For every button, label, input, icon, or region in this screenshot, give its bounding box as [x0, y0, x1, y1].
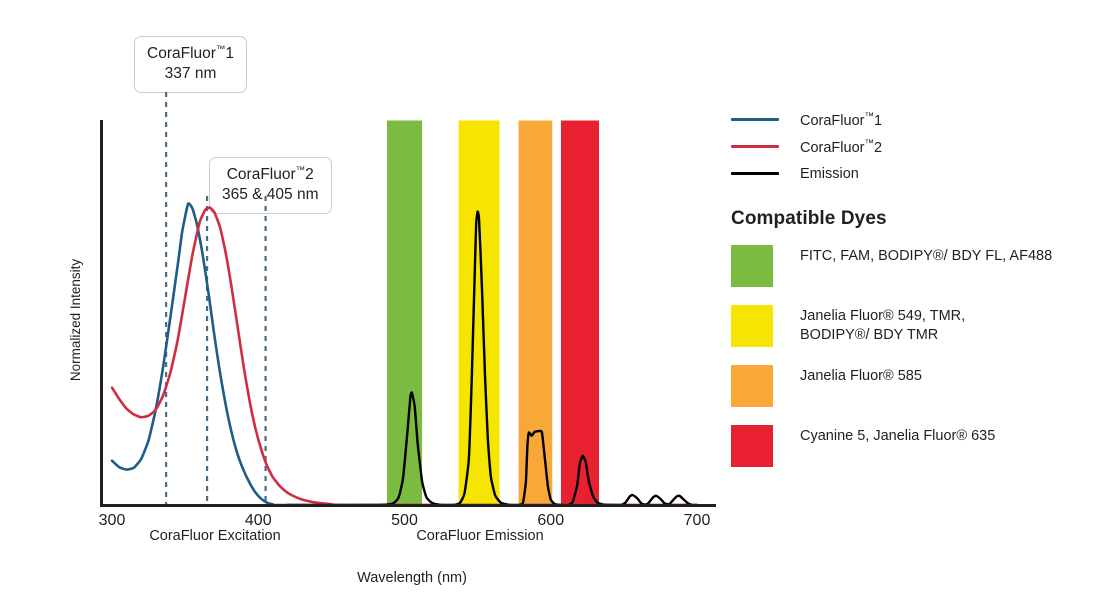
dye-color-swatch: [731, 245, 773, 287]
x-axis-title: Wavelength (nm): [357, 570, 467, 586]
legend-series-label: Emission: [800, 166, 859, 182]
dye-color-swatch: [731, 305, 773, 347]
legend-series-label: CoraFluor™2: [800, 138, 882, 156]
dye-label: FITC, FAM, BODIPY®/ BDY FL, AF488: [800, 245, 1052, 266]
dye-row-2: Janelia Fluor® 585: [731, 365, 1101, 407]
dye-row-1: Janelia Fluor® 549, TMR, BODIPY®/ BDY TM…: [731, 305, 1101, 347]
dye-label: Janelia Fluor® 585: [800, 365, 922, 386]
legend-series-row-2: Emission: [731, 160, 1101, 187]
x-tick-300: 300: [99, 512, 126, 529]
legend-panel: CoraFluor™1CoraFluor™2Emission Compatibl…: [731, 106, 1101, 485]
yellow-band: [459, 121, 500, 506]
legend-series-row-1: CoraFluor™2: [731, 133, 1101, 160]
excitation-marker-lines: [166, 92, 265, 505]
x-tick-600: 600: [537, 512, 564, 529]
dye-color-swatch: [731, 365, 773, 407]
region-label-emission: CoraFluor Emission: [416, 528, 543, 544]
green-band: [387, 121, 422, 506]
legend-series-label: CoraFluor™1: [800, 111, 882, 129]
x-axis-tick-labels: 300400500600700: [99, 512, 711, 529]
dye-row-3: Cyanine 5, Janelia Fluor® 635: [731, 425, 1101, 467]
x-tick-400: 400: [245, 512, 272, 529]
trademark-glyph: ™: [864, 138, 874, 149]
legend-line-swatch: [731, 172, 779, 175]
legend-line-swatch: [731, 118, 779, 121]
x-tick-700: 700: [684, 512, 711, 529]
dye-color-swatch: [731, 425, 773, 467]
dye-label: Janelia Fluor® 549, TMR, BODIPY®/ BDY TM…: [800, 305, 965, 345]
dye-label: Cyanine 5, Janelia Fluor® 635: [800, 425, 995, 446]
red-band: [561, 121, 599, 506]
orange-band: [519, 121, 553, 506]
legend-series-row-0: CoraFluor™1: [731, 106, 1101, 133]
trademark-glyph: ™: [864, 111, 874, 122]
x-tick-500: 500: [391, 512, 418, 529]
legend-line-swatch: [731, 145, 779, 148]
y-axis-title: Normalized Intensity: [68, 259, 83, 382]
series-legend-list: CoraFluor™1CoraFluor™2Emission: [731, 106, 1101, 187]
dye-row-0: FITC, FAM, BODIPY®/ BDY FL, AF488: [731, 245, 1101, 287]
region-label-excitation: CoraFluor Excitation: [149, 528, 280, 544]
compatible-dyes-list: FITC, FAM, BODIPY®/ BDY FL, AF488Janelia…: [731, 245, 1101, 467]
spectral-chart-figure: CoraFluor™1 337 nm CoraFluor™2 365 & 405…: [0, 0, 1110, 612]
compatible-dyes-title: Compatible Dyes: [731, 208, 1101, 230]
